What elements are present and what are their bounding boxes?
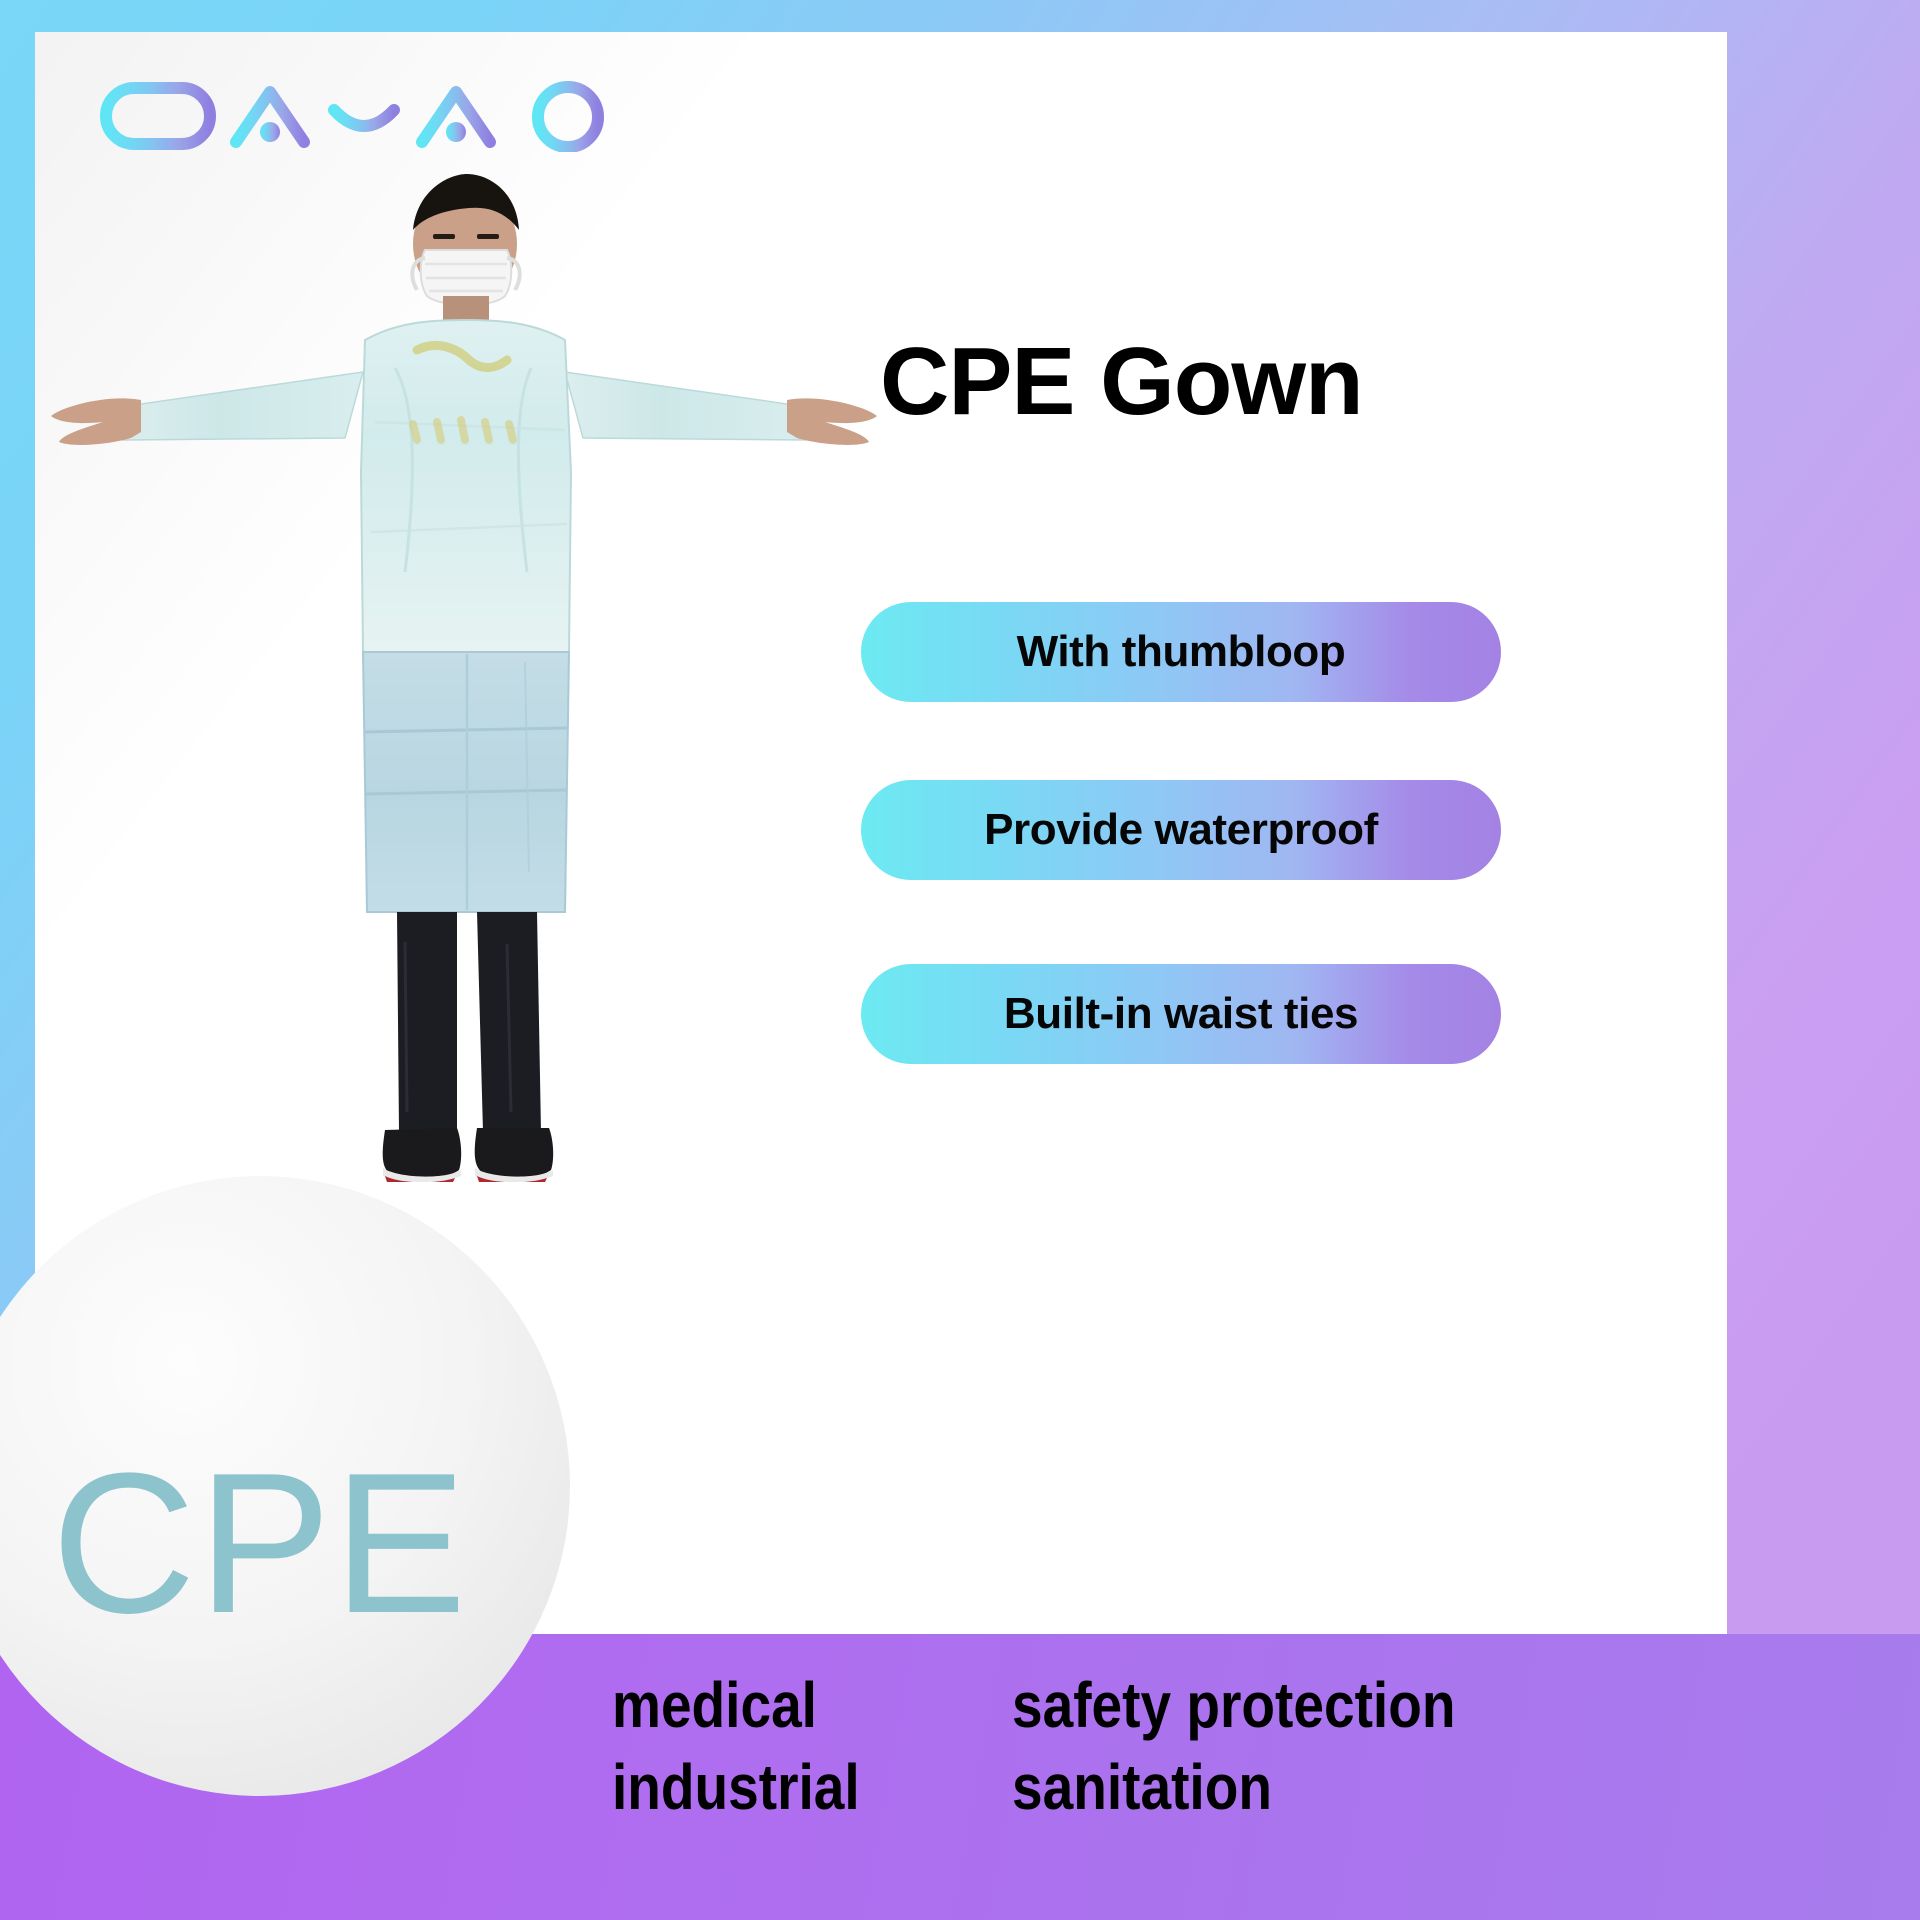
feature-pill-3-label: Built-in waist ties <box>1004 989 1358 1039</box>
footer-keyword-safety-protection: safety protection <box>1012 1668 1455 1742</box>
footer-keyword-industrial: industrial <box>612 1750 956 1824</box>
feature-pill-1[interactable]: With thumbloop <box>861 602 1501 702</box>
cpe-badge-label: CPE <box>51 1429 468 1659</box>
brand-logo <box>98 80 638 152</box>
feature-pill-3[interactable]: Built-in waist ties <box>861 964 1501 1064</box>
footer-keyword-medical: medical <box>612 1668 956 1742</box>
product-photo-model <box>45 172 885 1182</box>
footer-keyword-row-2: industrial sanitation <box>612 1750 1902 1824</box>
feature-pill-1-label: With thumbloop <box>1017 627 1346 677</box>
feature-pill-2[interactable]: Provide waterproof <box>861 780 1501 880</box>
footer-keywords: medical safety protection industrial san… <box>612 1668 1902 1824</box>
page-title: CPE Gown <box>880 332 1520 433</box>
footer-keyword-row-1: medical safety protection <box>612 1668 1902 1742</box>
product-poster: CPE Gown With thumbloop Provide waterpro… <box>0 0 1920 1920</box>
feature-pill-2-label: Provide waterproof <box>984 805 1378 855</box>
footer-keyword-sanitation: sanitation <box>1012 1750 1272 1824</box>
